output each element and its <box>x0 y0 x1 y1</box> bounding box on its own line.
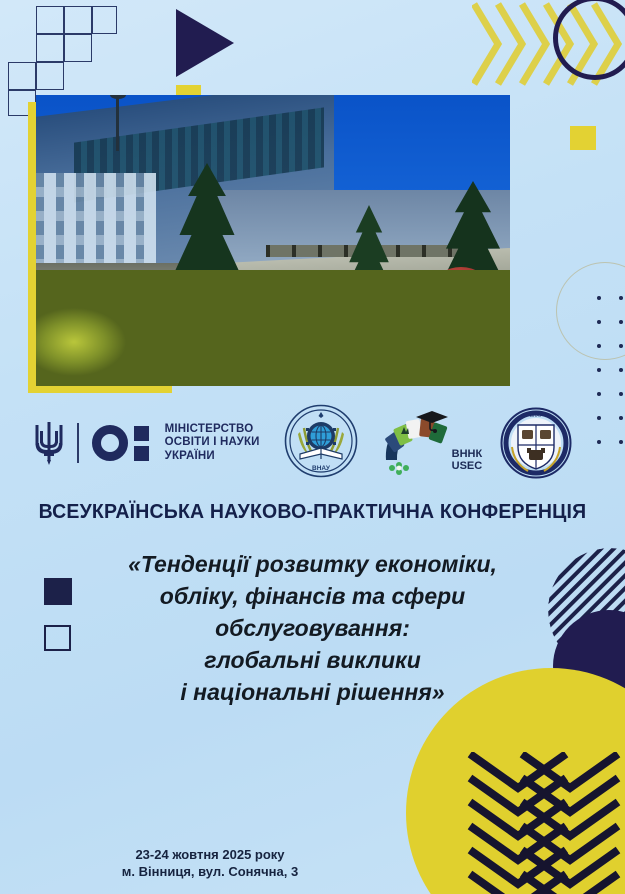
event-address: м. Вінниця, вул. Сонячна, 3 <box>0 863 420 880</box>
ministry-label-line2: ОСВІТИ І НАУКИ <box>165 436 260 450</box>
ministry-label: МІНІСТЕРСТВО ОСВІТИ І НАУКИ УКРАЇНИ <box>165 423 260 464</box>
logo-row: МІНІСТЕРСТВО ОСВІТИ І НАУКИ УКРАЇНИ <box>0 404 625 482</box>
usec-logo: ВННК USEC <box>380 408 483 478</box>
vnau-emblem-logo: ВНАУ <box>284 404 358 483</box>
yellow-square-decoration <box>570 126 596 150</box>
logo-divider <box>77 423 79 463</box>
ukraine-trident-icon <box>34 421 64 465</box>
vnau-emblem-icon: ВНАУ <box>284 404 358 478</box>
university-seal-icon: ВНАУ ВНАУ <box>500 407 572 479</box>
ministry-ring-icon <box>92 425 128 461</box>
event-details: 23-24 жовтня 2025 року м. Вінниця, вул. … <box>0 846 420 880</box>
svg-text:ВНАУ: ВНАУ <box>312 465 331 472</box>
conference-poster: МІНІСТЕРСТВО ОСВІТИ І НАУКИ УКРАЇНИ <box>0 0 625 894</box>
ministry-of-education-logo: МІНІСТЕРСТВО ОСВІТИ І НАУКИ УКРАЇНИ <box>34 421 260 465</box>
usec-label-line2: USEC <box>452 460 483 472</box>
svg-text:ВНАУ: ВНАУ <box>530 413 542 418</box>
conference-title-line-3: обслуговування: <box>0 612 625 644</box>
navy-chevrons-decoration <box>466 752 625 894</box>
usec-emblem-icon <box>380 408 458 478</box>
photo-flower-bed <box>36 270 510 386</box>
conference-title-line-1: «Тенденції розвитку економіки, <box>0 548 625 580</box>
usec-label: ВННК USEC <box>452 448 483 472</box>
navy-triangle-decoration <box>176 9 234 77</box>
grid-squares-decoration <box>8 4 116 104</box>
ministry-o-mark-icon <box>92 425 149 461</box>
ministry-squares-icon <box>134 426 149 461</box>
usec-label-line1: ВННК <box>452 448 483 460</box>
conference-type-heading: ВСЕУКРАЇНСЬКА НАУКОВО-ПРАКТИЧНА КОНФЕРЕН… <box>16 500 610 524</box>
ministry-label-line3: УКРАЇНИ <box>165 450 260 464</box>
ministry-label-line1: МІНІСТЕРСТВО <box>165 423 260 437</box>
svg-text:ВНАУ: ВНАУ <box>530 471 542 476</box>
university-campus-photo <box>36 95 510 386</box>
conference-title-line-2: обліку, фінансів та сфери <box>0 580 625 612</box>
event-date: 23-24 жовтня 2025 року <box>0 846 420 863</box>
photo-lamp-post <box>116 95 119 151</box>
